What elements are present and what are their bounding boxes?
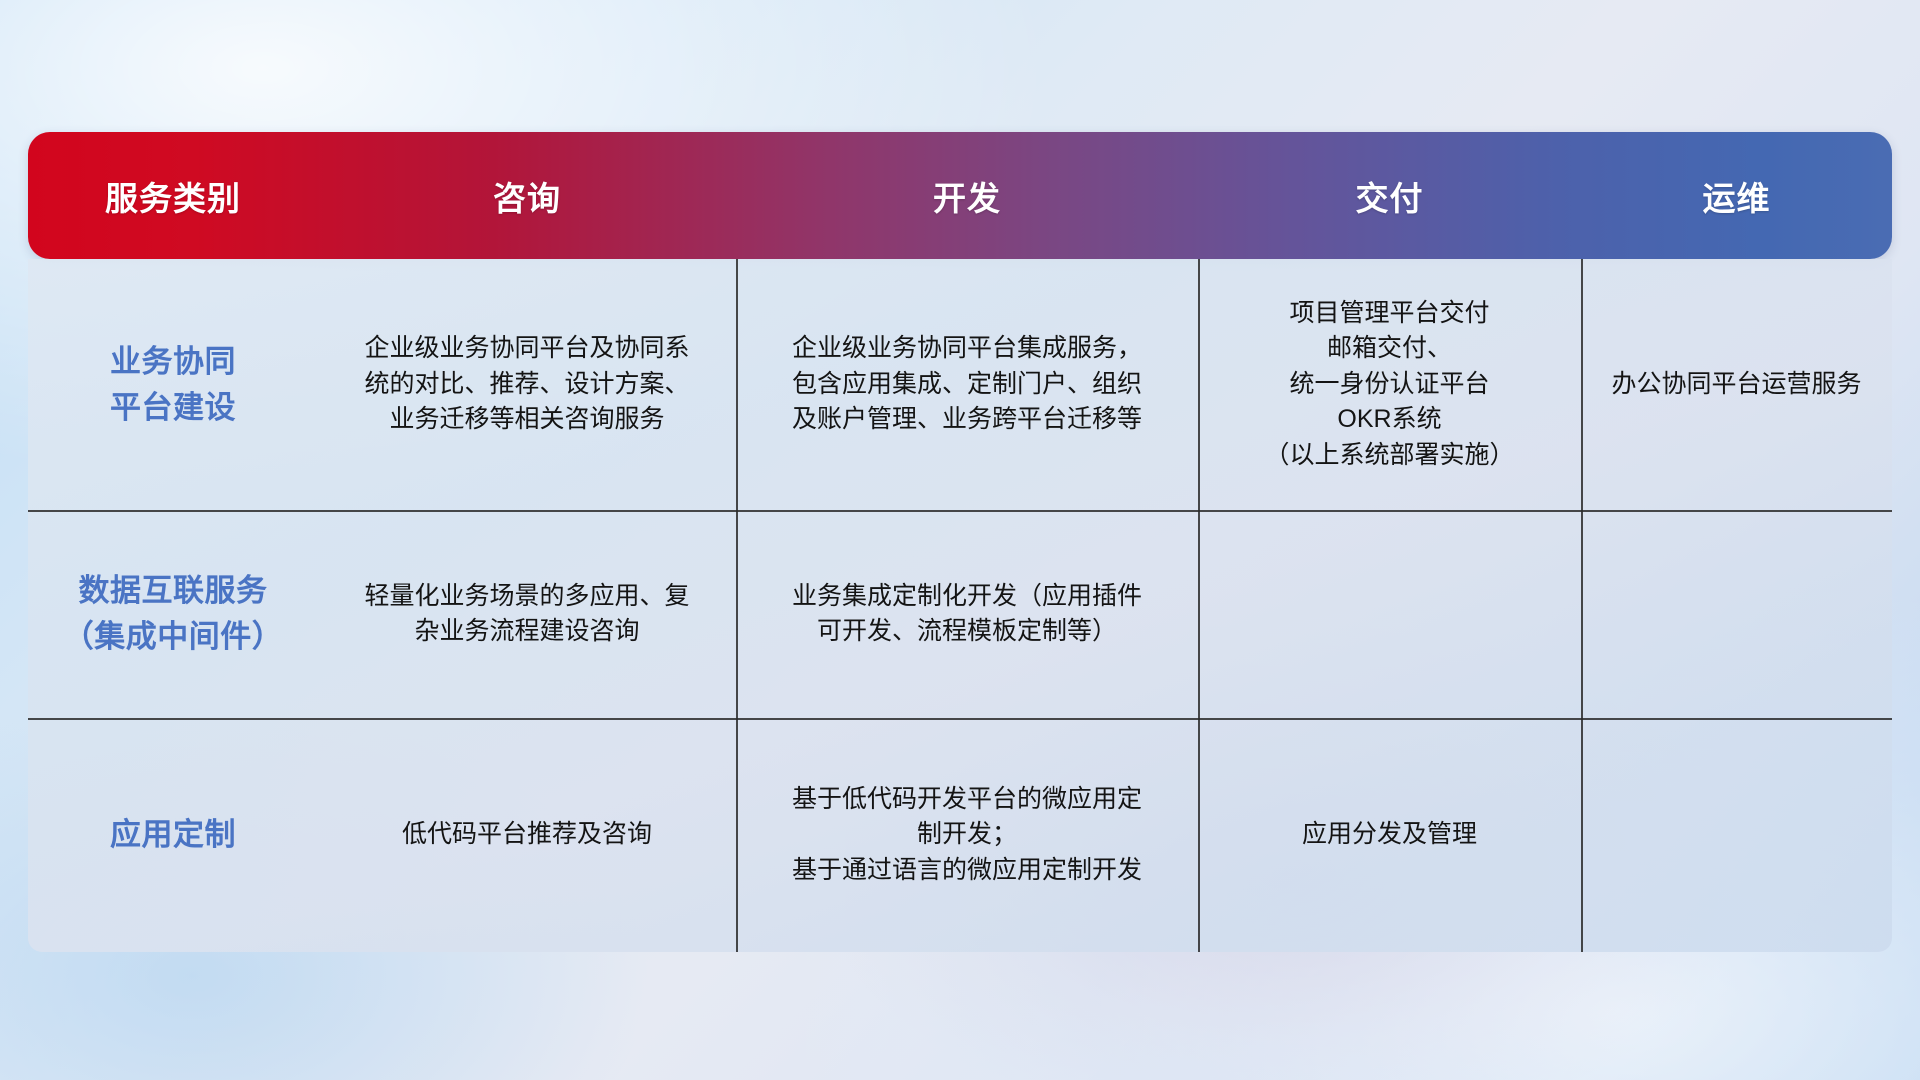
table-row: 数据互联服务 （集成中间件） 轻量化业务场景的多应用、复 杂业务流程建设咨询 业… xyxy=(28,510,1892,718)
cell-consulting-row2: 轻量化业务场景的多应用、复 杂业务流程建设咨询 xyxy=(318,573,736,656)
cell-consulting-row3: 低代码平台推荐及咨询 xyxy=(318,811,736,859)
table-row: 应用定制 低代码平台推荐及咨询 基于低代码开发平台的微应用定 制开发； 基于通过… xyxy=(28,718,1892,952)
table-body: 业务协同 平台建设 企业级业务协同平台及协同系 统的对比、推荐、设计方案、 业务… xyxy=(28,259,1892,952)
column-header-consulting: 咨询 xyxy=(318,172,736,220)
cell-operations-row3 xyxy=(1581,829,1892,841)
cell-development-row3: 基于低代码开发平台的微应用定 制开发； 基于通过语言的微应用定制开发 xyxy=(736,776,1198,895)
table-row: 业务协同 平台建设 企业级业务协同平台及协同系 统的对比、推荐、设计方案、 业务… xyxy=(28,259,1892,510)
cell-consulting-row1: 企业级业务协同平台及协同系 统的对比、推荐、设计方案、 业务迁移等相关咨询服务 xyxy=(318,325,736,444)
cell-operations-row1: 办公协同平台运营服务 xyxy=(1581,361,1892,409)
cell-delivery-row2 xyxy=(1198,608,1581,620)
row-label-app-customization: 应用定制 xyxy=(28,806,318,864)
cell-delivery-row1: 项目管理平台交付 邮箱交付、 统一身份认证平台 OKR系统 （以上系统部署实施） xyxy=(1198,290,1581,480)
column-header-operations: 运维 xyxy=(1581,172,1892,220)
column-header-development: 开发 xyxy=(736,172,1198,220)
column-header-delivery: 交付 xyxy=(1198,172,1581,220)
cell-development-row1: 企业级业务协同平台集成服务， 包含应用集成、定制门户、组织 及账户管理、业务跨平… xyxy=(736,325,1198,444)
service-matrix-table: 服务类别 咨询 开发 交付 运维 业务协同 平台建设 企业级业务协同平台及协同系… xyxy=(28,132,1892,952)
cell-operations-row2 xyxy=(1581,608,1892,620)
row-label-business-collaboration: 业务协同 平台建设 xyxy=(28,333,318,437)
cell-delivery-row3: 应用分发及管理 xyxy=(1198,811,1581,859)
row-label-data-interconnect: 数据互联服务 （集成中间件） xyxy=(28,562,318,666)
column-header-category: 服务类别 xyxy=(28,172,318,220)
table-header-row: 服务类别 咨询 开发 交付 运维 xyxy=(28,132,1892,259)
cell-development-row2: 业务集成定制化开发（应用插件 可开发、流程模板定制等） xyxy=(736,573,1198,656)
